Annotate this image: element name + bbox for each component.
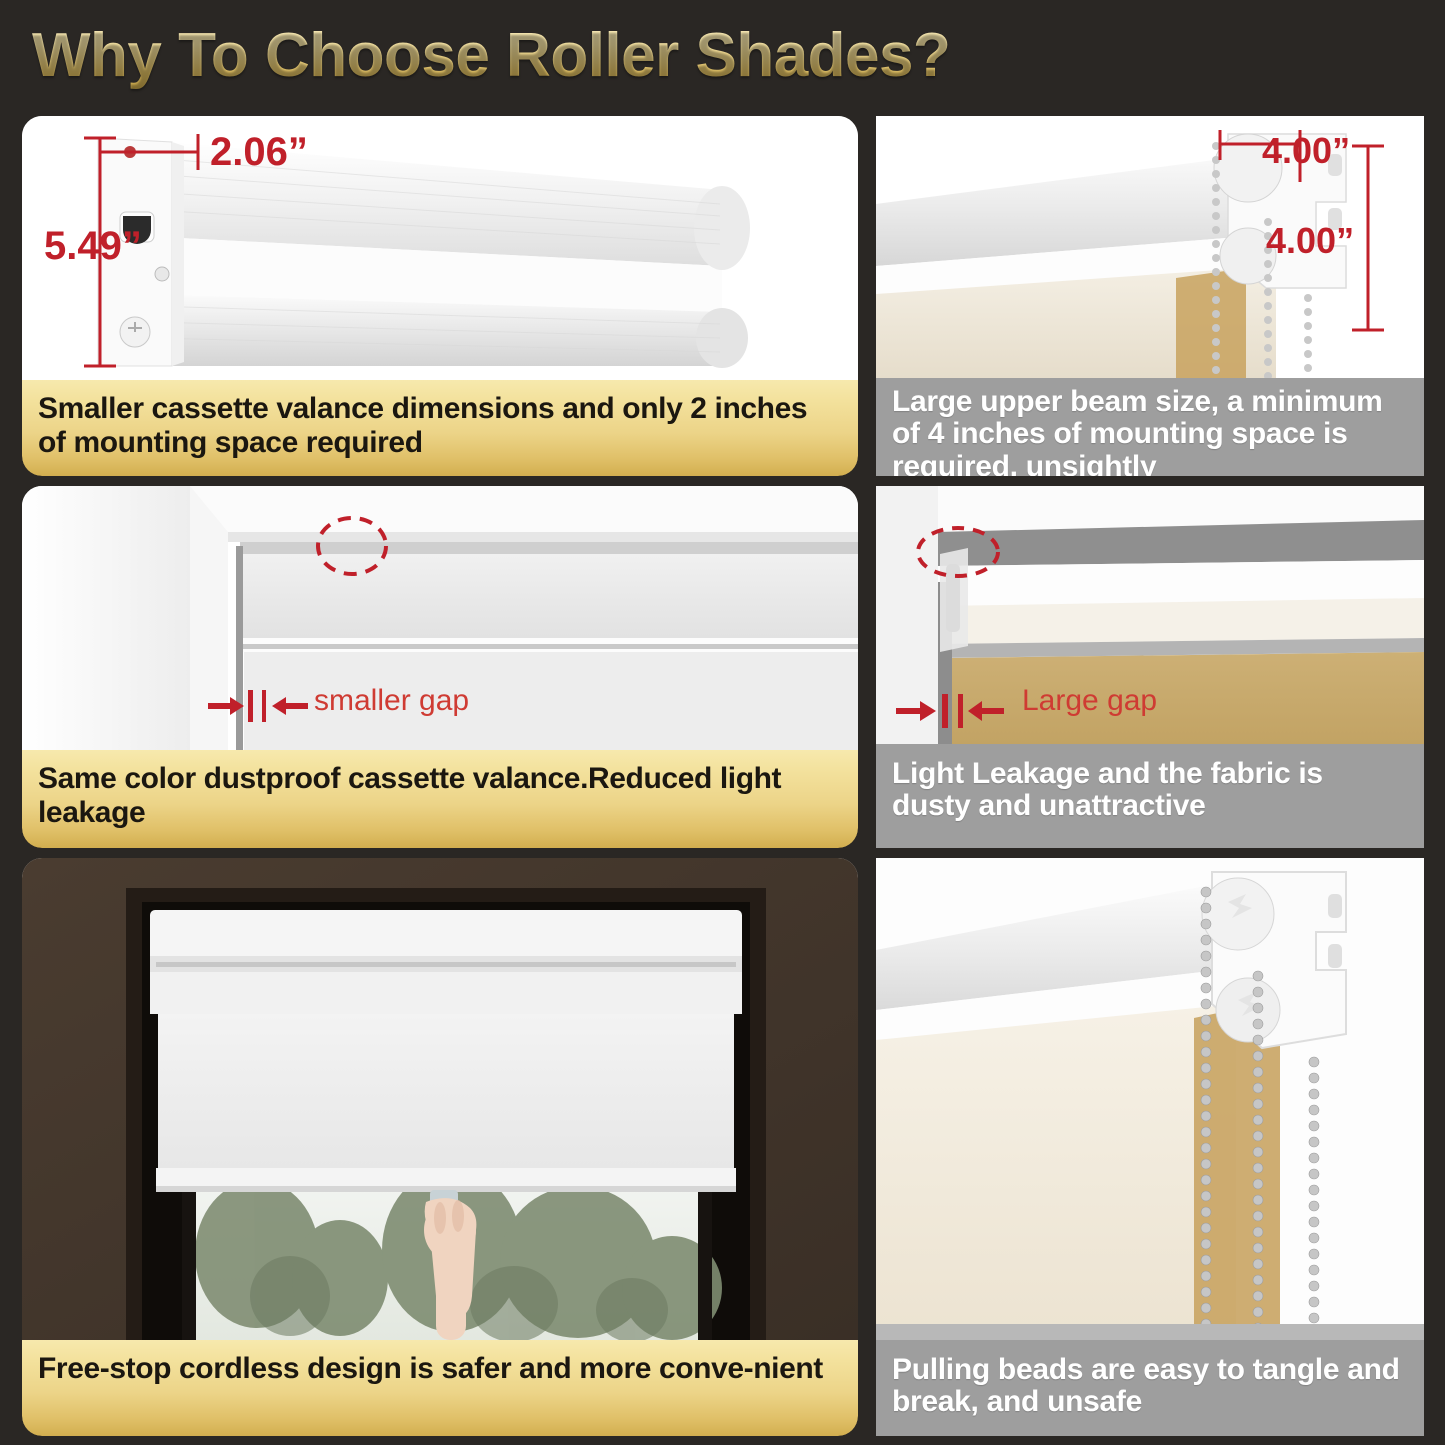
caption-text: Large upper beam size, a minimum of 4 in… — [892, 386, 1408, 476]
caption-text: Smaller cassette valance dimensions and … — [38, 392, 842, 459]
height-dimension-label: 5.49” — [44, 224, 142, 269]
beam-height-dimension-label: 4.00” — [1266, 220, 1354, 262]
panel-light-leakage-photo: Large gap — [876, 486, 1424, 744]
panel-dustproof-valance-caption: Same color dustproof cassette valance.Re… — [22, 750, 858, 848]
panel-pulling-beads: Pulling beads are easy to tangle and bre… — [876, 858, 1424, 1436]
page-title: Why To Choose Roller Shades? — [32, 20, 950, 91]
panel-cassette-dimensions-photo: 2.06” 5.49” — [22, 116, 858, 380]
panel-light-leakage: Large gap Light Leakage and the fabric i… — [876, 486, 1424, 848]
caption-text: Pulling beads are easy to tangle and bre… — [892, 1354, 1408, 1419]
panel-cordless-design-caption: Free-stop cordless design is safer and m… — [22, 1340, 858, 1436]
panel-pulling-beads-caption: Pulling beads are easy to tangle and bre… — [876, 1340, 1424, 1436]
panel-cassette-dimensions: 2.06” 5.49” Smaller cassette valance dim… — [22, 116, 858, 476]
panel-dustproof-valance: smaller gap Same color dustproof cassett… — [22, 486, 858, 848]
panel-cassette-dimensions-caption: Smaller cassette valance dimensions and … — [22, 380, 858, 476]
cassette-valance-illustration — [22, 116, 858, 380]
caption-text: Light Leakage and the fabric is dusty an… — [892, 758, 1408, 823]
panel-cordless-design-photo — [22, 858, 858, 1340]
comparison-grid: 2.06” 5.49” Smaller cassette valance dim… — [0, 108, 1445, 1445]
smaller-gap-label: smaller gap — [314, 684, 469, 718]
beam-width-dimension-label: 4.00” — [1262, 130, 1350, 172]
panel-large-upper-beam-photo: 4.00” 4.00” — [876, 116, 1424, 378]
panel-large-upper-beam-caption: Large upper beam size, a minimum of 4 in… — [876, 378, 1424, 476]
panel-large-upper-beam: 4.00” 4.00” Large upper beam size, a min… — [876, 116, 1424, 476]
panel-dustproof-valance-photo: smaller gap — [22, 486, 858, 750]
panel-cordless-design: Free-stop cordless design is safer and m… — [22, 858, 858, 1436]
caption-text: Same color dustproof cassette valance.Re… — [38, 762, 842, 829]
caption-text: Free-stop cordless design is safer and m… — [38, 1352, 823, 1386]
width-dimension-label: 2.06” — [210, 130, 308, 175]
panel-light-leakage-caption: Light Leakage and the fabric is dusty an… — [876, 744, 1424, 848]
large-gap-label: Large gap — [1022, 684, 1157, 718]
page-title-bar: Why To Choose Roller Shades? — [0, 0, 1445, 110]
bead-chain-roller-illustration — [876, 858, 1424, 1340]
panel-pulling-beads-photo — [876, 858, 1424, 1340]
cordless-shade-window-scene — [22, 858, 858, 1340]
